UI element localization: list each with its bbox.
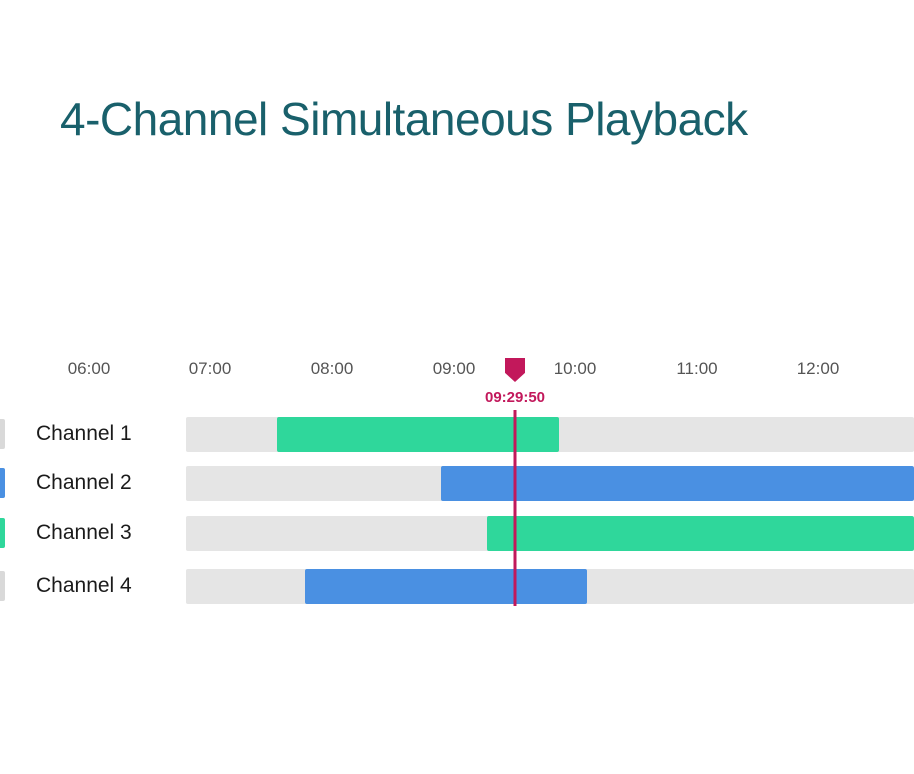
playhead-shield-icon (505, 358, 525, 382)
axis-tick-label: 10:00 (554, 359, 597, 379)
recording-segment[interactable] (305, 569, 587, 604)
time-axis[interactable]: 06:0007:0008:0009:0010:0011:0012:00 (0, 350, 914, 386)
channel-lane[interactable]: Channel 4 (0, 562, 914, 610)
playback-timeline-screen: 4-Channel Simultaneous Playback 06:0007:… (0, 0, 914, 774)
lane-track[interactable] (186, 569, 914, 604)
axis-tick-label: 12:00 (797, 359, 840, 379)
channel-lane[interactable]: Channel 2 (0, 459, 914, 507)
lane-track[interactable] (186, 466, 914, 501)
axis-tick-label: 09:00 (433, 359, 476, 379)
lane-track[interactable] (186, 417, 914, 452)
axis-tick-label: 06:00 (68, 359, 111, 379)
axis-tick-label: 08:00 (311, 359, 354, 379)
lane-color-swatch (0, 571, 5, 601)
lane-label: Channel 4 (36, 574, 132, 598)
recording-segment[interactable] (277, 417, 559, 452)
lane-color-swatch (0, 419, 5, 449)
axis-tick-label: 11:00 (676, 359, 717, 379)
page-title: 4-Channel Simultaneous Playback (60, 93, 748, 146)
lane-label: Channel 3 (36, 521, 132, 545)
playhead-time-label: 09:29:50 (485, 389, 545, 406)
axis-tick-label: 07:00 (189, 359, 232, 379)
channel-lane[interactable]: Channel 1 (0, 410, 914, 458)
lane-color-swatch (0, 468, 5, 498)
lane-track[interactable] (186, 516, 914, 551)
playhead-shield-marker[interactable] (505, 358, 525, 382)
recording-segment[interactable] (487, 516, 914, 551)
lane-label: Channel 1 (36, 422, 132, 446)
recording-segment[interactable] (441, 466, 914, 501)
lane-label: Channel 2 (36, 471, 132, 495)
channel-lane[interactable]: Channel 3 (0, 509, 914, 557)
lane-color-swatch (0, 518, 5, 548)
